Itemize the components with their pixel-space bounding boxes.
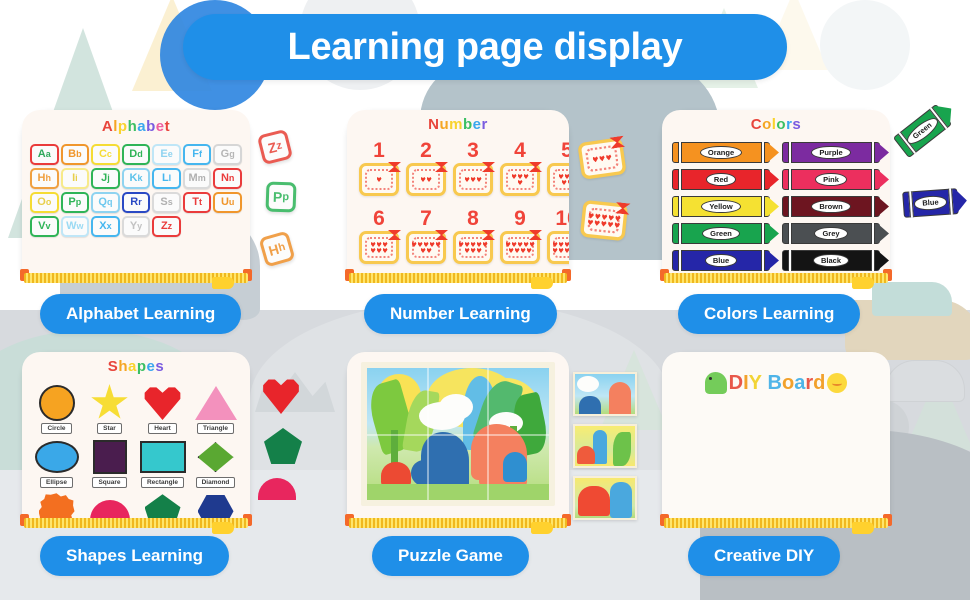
heart-icon bbox=[594, 220, 600, 226]
crayon-label: Brown bbox=[811, 200, 850, 214]
alphabet-tile-m[interactable]: Mm bbox=[183, 168, 212, 189]
tile-lower: o bbox=[46, 198, 52, 207]
shape-star-icon bbox=[91, 384, 129, 422]
heart-count-7 bbox=[410, 240, 442, 255]
heart-icon bbox=[518, 174, 523, 179]
shape-art bbox=[39, 492, 75, 520]
puzzle-board[interactable] bbox=[347, 352, 569, 520]
loose-alphabet-tile-p[interactable]: Pp bbox=[265, 181, 296, 212]
number-cell-9[interactable]: 9 bbox=[500, 208, 540, 264]
crayon-green[interactable]: Green bbox=[893, 104, 952, 158]
tile-lower: v bbox=[45, 222, 50, 231]
diy-board[interactable]: DIY Board bbox=[662, 352, 890, 520]
alphabet-tile-t[interactable]: Tt bbox=[183, 192, 212, 213]
heart-icon bbox=[377, 248, 382, 253]
heart-icon bbox=[530, 242, 535, 247]
shape-art bbox=[145, 492, 181, 520]
crayon-pink[interactable]: Pink bbox=[782, 169, 880, 190]
loose-shape-pentagon[interactable] bbox=[264, 428, 302, 464]
alphabet-tile-n[interactable]: Nn bbox=[213, 168, 242, 189]
tile-lower: n bbox=[229, 174, 235, 183]
tile-upper: E bbox=[160, 149, 167, 160]
alphabet-tile-c[interactable]: Cc bbox=[91, 144, 120, 165]
shape-art bbox=[198, 492, 234, 520]
zipper-pull[interactable] bbox=[852, 277, 874, 289]
alphabet-tile-p[interactable]: Pp bbox=[61, 192, 90, 213]
number-cookie-tile-4[interactable] bbox=[500, 163, 540, 196]
tile-upper: O bbox=[37, 197, 46, 208]
alphabet-tile-s[interactable]: Ss bbox=[152, 192, 181, 213]
diy-title-letter: r bbox=[805, 373, 813, 393]
board-surface[interactable]: DIY Board bbox=[662, 352, 890, 520]
shape-label: Triangle bbox=[197, 423, 234, 434]
zipper-pull[interactable] bbox=[531, 277, 553, 289]
heart-icon bbox=[477, 177, 482, 182]
number-cell-2[interactable]: 2 bbox=[406, 140, 446, 196]
alphabet-board[interactable]: Alphabet AaBbCcDdEeFfGgHhIiJjKkLlMmNnOoP… bbox=[22, 110, 250, 275]
heart-icon bbox=[509, 248, 514, 253]
crayon-band bbox=[948, 188, 954, 214]
tile-lower: b bbox=[76, 150, 82, 159]
shape-square-icon bbox=[93, 440, 127, 474]
tile-lower: r bbox=[138, 198, 142, 207]
heart-icon bbox=[524, 242, 529, 247]
crayon-band bbox=[678, 223, 682, 244]
shape-cell-square[interactable]: Square bbox=[85, 438, 134, 488]
diy-title-letter: D bbox=[729, 373, 743, 393]
crayon-band bbox=[678, 142, 682, 163]
shape-label: Circle bbox=[41, 423, 71, 434]
shape-art bbox=[35, 438, 79, 476]
heart-count-8 bbox=[457, 240, 489, 255]
shape-cell-ellipse[interactable]: Ellipse bbox=[32, 438, 81, 488]
heart-icon bbox=[427, 248, 432, 253]
tile-upper: F bbox=[192, 149, 199, 160]
crayon-band bbox=[788, 250, 792, 271]
heart-icon bbox=[506, 242, 511, 247]
tile-upper: C bbox=[99, 149, 107, 160]
diy-board-title: DIY Board bbox=[662, 372, 890, 394]
crayon-brown[interactable]: Brown bbox=[782, 196, 880, 217]
tile-upper: Q bbox=[98, 197, 107, 208]
heart-icon bbox=[608, 215, 614, 221]
heart-icon bbox=[565, 248, 570, 253]
number-digit: 8 bbox=[467, 208, 479, 229]
heart-icon bbox=[559, 242, 564, 247]
heart-icon bbox=[471, 177, 476, 182]
bow-icon bbox=[615, 202, 631, 215]
heart-icon bbox=[412, 242, 417, 247]
tile-lower: a bbox=[46, 150, 51, 159]
tile-lower: q bbox=[107, 198, 113, 207]
crayon-band bbox=[761, 196, 765, 217]
heart-icon bbox=[592, 156, 598, 162]
crayon-label: Black bbox=[813, 254, 849, 268]
board-surface: Shapes CircleStarHeartTriangleEllipseSqu… bbox=[22, 352, 250, 520]
bow-icon bbox=[388, 162, 401, 172]
loose-shape-semicircle[interactable] bbox=[258, 478, 296, 500]
heart-icon bbox=[477, 242, 482, 247]
shape-art bbox=[144, 384, 182, 422]
tile-lower: f bbox=[199, 150, 202, 159]
panel-grid: Alphabet AaBbCcDdEeFfGgHhIiJjKkLlMmNnOoP… bbox=[0, 0, 970, 600]
heart-icon bbox=[483, 242, 488, 247]
shapes-board-title: Shapes bbox=[22, 358, 250, 375]
shape-hexagon-icon bbox=[198, 494, 234, 520]
shape-label: Heart bbox=[148, 423, 177, 434]
number-cell-7[interactable]: 7 bbox=[406, 208, 446, 264]
tile-lower: z bbox=[168, 222, 173, 231]
alphabet-tile-q[interactable]: Qq bbox=[91, 192, 120, 213]
crayon-band bbox=[761, 223, 765, 244]
shape-cell-pentagon[interactable]: Pentagon bbox=[138, 492, 187, 520]
caption-alphabet-learning: Alphabet Learning bbox=[40, 294, 241, 334]
shape-ellipse-icon bbox=[35, 441, 79, 473]
alphabet-tile-v[interactable]: Vv bbox=[30, 216, 59, 237]
crayon-label: Purple bbox=[811, 146, 850, 160]
loose-shape-heart[interactable] bbox=[262, 378, 300, 414]
heart-count-3 bbox=[463, 172, 483, 187]
crayon-band bbox=[871, 223, 875, 244]
crayon-band bbox=[908, 191, 914, 217]
colors-board[interactable]: Colors OrangePurpleRedPinkYellowBrownGre… bbox=[662, 110, 890, 275]
shape-circle-icon bbox=[39, 385, 75, 421]
diy-title-letter: B bbox=[768, 373, 782, 393]
tile-lower: d bbox=[137, 150, 143, 159]
tile-upper: M bbox=[189, 173, 198, 184]
number-digit: 6 bbox=[373, 208, 385, 229]
shape-cell-flower[interactable]: Flower bbox=[32, 492, 81, 520]
tile-lower: l bbox=[169, 174, 172, 183]
shape-heart-icon bbox=[144, 386, 182, 420]
alphabet-tile-r[interactable]: Rr bbox=[122, 192, 151, 213]
number-cell-1[interactable]: 1 bbox=[359, 140, 399, 196]
crayon-band bbox=[788, 196, 792, 217]
heart-icon bbox=[553, 242, 558, 247]
heart-icon bbox=[607, 221, 613, 227]
crayon-band bbox=[761, 250, 765, 271]
loose-number-cookie[interactable] bbox=[580, 200, 628, 241]
tile-upper: K bbox=[130, 173, 138, 184]
alphabet-tile-w[interactable]: Ww bbox=[61, 216, 90, 237]
shape-label: Square bbox=[92, 477, 126, 488]
zipper-pull[interactable] bbox=[852, 522, 874, 534]
number-digit: 3 bbox=[467, 140, 479, 161]
dinosaur-icon bbox=[705, 372, 727, 394]
shape-label: Ellipse bbox=[40, 477, 73, 488]
shape-diamond-icon bbox=[198, 442, 234, 472]
bow-icon bbox=[482, 162, 495, 172]
shape-art bbox=[90, 492, 130, 520]
shape-cell-diamond[interactable]: Diamond bbox=[191, 438, 240, 488]
puzzle-scene[interactable] bbox=[361, 362, 555, 506]
number-cookie-tile-1[interactable] bbox=[359, 163, 399, 196]
shape-cell-star[interactable]: Star bbox=[85, 384, 134, 434]
heart-icon bbox=[601, 221, 607, 227]
tile-lower: j bbox=[107, 174, 110, 183]
bow-icon bbox=[529, 230, 542, 240]
heart-icon bbox=[527, 248, 532, 253]
alphabet-tile-z[interactable]: Zz bbox=[152, 216, 181, 237]
diy-title-letters: DIY Board bbox=[729, 373, 826, 393]
shape-cell-heart[interactable]: Heart bbox=[138, 384, 187, 434]
tile-lower: x bbox=[107, 222, 112, 231]
shape-cell-triangle[interactable]: Triangle bbox=[191, 384, 240, 434]
alphabet-tile-l[interactable]: Ll bbox=[152, 168, 181, 189]
tile-lower: w bbox=[77, 222, 84, 231]
heart-icon bbox=[471, 248, 476, 253]
diy-title-letter: d bbox=[813, 373, 825, 393]
heart-icon bbox=[430, 242, 435, 247]
shape-art bbox=[140, 438, 186, 476]
shapes-board[interactable]: Shapes CircleStarHeartTriangleEllipseSqu… bbox=[22, 352, 250, 520]
tile-lower: u bbox=[229, 198, 235, 207]
tile-upper: B bbox=[68, 149, 76, 160]
heart-icon bbox=[559, 248, 564, 253]
number-cookie-tile-8[interactable] bbox=[453, 231, 493, 264]
tile-upper: Z bbox=[161, 221, 168, 232]
heart-icon bbox=[377, 177, 382, 182]
heart-icon bbox=[421, 248, 426, 253]
puzzle-dinosaur-red bbox=[381, 462, 411, 486]
number-cookie-tile-10[interactable] bbox=[547, 231, 569, 264]
bow-icon bbox=[388, 230, 401, 240]
number-digit: 7 bbox=[420, 208, 432, 229]
crayon-grey[interactable]: Grey bbox=[782, 223, 880, 244]
crayon-label: Blue bbox=[705, 254, 737, 268]
heart-icon bbox=[614, 222, 620, 228]
heart-icon bbox=[465, 248, 470, 253]
number-cell-6[interactable]: 6 bbox=[359, 208, 399, 264]
alphabet-tile-h[interactable]: Hh bbox=[30, 168, 59, 189]
number-cookie-tile-3[interactable] bbox=[453, 163, 493, 196]
shape-cell-semicircle[interactable]: Semicircle bbox=[85, 492, 134, 520]
heart-icon bbox=[465, 177, 470, 182]
crayon-grid[interactable]: OrangePurpleRedPinkYellowBrownGreenGreyB… bbox=[672, 142, 880, 271]
shape-rectangle-icon bbox=[140, 441, 186, 473]
alphabet-tile-b[interactable]: Bb bbox=[61, 144, 90, 165]
tile-upper: S bbox=[160, 197, 167, 208]
board-surface: Alphabet AaBbCcDdEeFfGgHhIiJjKkLlMmNnOoP… bbox=[22, 110, 250, 275]
heart-icon bbox=[377, 242, 382, 247]
crayon-green[interactable]: Green bbox=[672, 223, 770, 244]
loose-crayon-green[interactable]: Green bbox=[893, 104, 952, 158]
tile-lower: c bbox=[107, 150, 112, 159]
tile-lower: h bbox=[46, 174, 52, 183]
crayon-band bbox=[678, 196, 682, 217]
heart-icon bbox=[436, 242, 441, 247]
crayon-band bbox=[761, 169, 765, 190]
heart-icon bbox=[512, 174, 517, 179]
number-tile-grid[interactable]: 12345678910 bbox=[359, 140, 557, 264]
number-cell-5[interactable]: 5 bbox=[547, 140, 569, 196]
shape-art bbox=[91, 384, 129, 422]
loose-crayon-blue[interactable]: Blue bbox=[902, 188, 959, 218]
crayon-blue[interactable]: Blue bbox=[902, 188, 959, 218]
puzzle-image bbox=[367, 368, 549, 500]
diy-title-letter: a bbox=[794, 373, 805, 393]
crayon-red[interactable]: Red bbox=[672, 169, 770, 190]
caption-number-learning: Number Learning bbox=[364, 294, 557, 334]
bow-icon bbox=[435, 162, 448, 172]
alphabet-tile-a[interactable]: Aa bbox=[30, 144, 59, 165]
crayon-label: Blue bbox=[914, 195, 947, 211]
tile-upper: R bbox=[130, 197, 138, 208]
tile-upper: L bbox=[162, 173, 169, 184]
heart-icon bbox=[615, 215, 621, 221]
crayon-yellow[interactable]: Yellow bbox=[672, 196, 770, 217]
alphabet-tile-grid[interactable]: AaBbCcDdEeFfGgHhIiJjKkLlMmNnOoPpQqRrSsTt… bbox=[30, 144, 242, 237]
crayon-band bbox=[871, 250, 875, 271]
number-cookie-tile-5[interactable] bbox=[547, 163, 569, 196]
heart-icon bbox=[418, 242, 423, 247]
puzzle-seam bbox=[367, 434, 549, 436]
shape-semicircle-icon bbox=[258, 478, 296, 500]
number-cell-10[interactable]: 10 bbox=[547, 208, 569, 264]
shape-label: Diamond bbox=[196, 477, 236, 488]
crayon-band bbox=[871, 142, 875, 163]
heart-count-1 bbox=[375, 172, 383, 187]
tile-upper: V bbox=[38, 221, 45, 232]
heart-count-10 bbox=[551, 240, 569, 255]
heart-icon bbox=[565, 174, 570, 179]
number-cell-3[interactable]: 3 bbox=[453, 140, 493, 196]
alphabet-tile-e[interactable]: Ee bbox=[152, 144, 181, 165]
crayon-blue[interactable]: Blue bbox=[672, 250, 770, 271]
tile-lower: i bbox=[75, 174, 78, 183]
loose-alphabet-tile-z[interactable]: Zz bbox=[257, 129, 293, 165]
heart-icon bbox=[512, 242, 517, 247]
number-cookie-tile-7[interactable] bbox=[406, 231, 446, 264]
number-board-title: Number bbox=[347, 116, 569, 133]
shape-tile-grid[interactable]: CircleStarHeartTriangleEllipseSquareRect… bbox=[32, 384, 240, 520]
tile-upper: X bbox=[99, 221, 106, 232]
alphabet-tile-x[interactable]: Xx bbox=[91, 216, 120, 237]
board-surface: Colors OrangePurpleRedPinkYellowBrownGre… bbox=[662, 110, 890, 275]
shape-heart-icon bbox=[262, 378, 300, 414]
shape-label: Star bbox=[97, 423, 122, 434]
heart-count-4 bbox=[510, 172, 530, 187]
heart-count-5 bbox=[557, 172, 569, 187]
number-digit: 2 bbox=[420, 140, 432, 161]
heart-icon bbox=[565, 242, 570, 247]
shape-flower-icon bbox=[39, 493, 75, 520]
page-title-banner: Learning page display bbox=[183, 14, 787, 80]
shape-art bbox=[198, 438, 234, 476]
shape-label: Rectangle bbox=[141, 477, 184, 488]
tile-upper: A bbox=[38, 149, 46, 160]
tile-lower: p bbox=[282, 191, 289, 203]
heart-icon bbox=[518, 242, 523, 247]
heart-icon bbox=[595, 213, 601, 219]
alphabet-tile-j[interactable]: Jj bbox=[91, 168, 120, 189]
crayon-orange[interactable]: Orange bbox=[672, 142, 770, 163]
puzzle-dinosaur-small bbox=[503, 452, 527, 482]
shape-cell-hexagon[interactable]: Hexagon bbox=[191, 492, 240, 520]
heart-icon bbox=[424, 242, 429, 247]
heart-icon bbox=[515, 248, 520, 253]
crayon-band bbox=[871, 169, 875, 190]
heart-count-6 bbox=[369, 240, 389, 255]
alphabet-tile-k[interactable]: Kk bbox=[122, 168, 151, 189]
board-surface bbox=[347, 352, 569, 520]
shape-art bbox=[195, 384, 237, 422]
alphabet-tile-g[interactable]: Gg bbox=[213, 144, 242, 165]
crayon-band bbox=[871, 196, 875, 217]
puzzle-cloud bbox=[439, 394, 473, 420]
shape-cell-circle[interactable]: Circle bbox=[32, 384, 81, 434]
crayon-purple[interactable]: Purple bbox=[782, 142, 880, 163]
alphabet-tile-f[interactable]: Ff bbox=[183, 144, 212, 165]
shape-cell-rectangle[interactable]: Rectangle bbox=[138, 438, 187, 488]
heart-icon bbox=[459, 242, 464, 247]
bow-icon bbox=[435, 230, 448, 240]
loose-alphabet-tile-h[interactable]: Hh bbox=[258, 230, 295, 267]
number-cookie-tile-9[interactable] bbox=[500, 231, 540, 264]
tile-upper: P bbox=[68, 197, 75, 208]
number-cell-4[interactable]: 4 bbox=[500, 140, 540, 196]
zipper-pull[interactable] bbox=[531, 522, 553, 534]
number-digit: 10 bbox=[555, 208, 569, 229]
number-cell-8[interactable]: 8 bbox=[453, 208, 493, 264]
puzzle-piece-card[interactable] bbox=[573, 372, 637, 416]
number-board[interactable]: Number 12345678910 bbox=[347, 110, 569, 275]
heart-icon bbox=[587, 219, 593, 225]
loose-cookie-tile[interactable] bbox=[577, 137, 627, 180]
tile-lower: m bbox=[198, 174, 206, 183]
alphabet-tile-u[interactable]: Uu bbox=[213, 192, 242, 213]
alphabet-tile-i[interactable]: Ii bbox=[61, 168, 90, 189]
heart-icon bbox=[518, 180, 523, 185]
caption-creative-diy: Creative DIY bbox=[688, 536, 840, 576]
crayon-black[interactable]: Black bbox=[782, 250, 880, 271]
heart-icon bbox=[465, 242, 470, 247]
loose-number-cookie[interactable] bbox=[577, 137, 627, 180]
alphabet-tile-y[interactable]: Yy bbox=[122, 216, 151, 237]
diy-title-letter: o bbox=[782, 373, 794, 393]
tile-upper: Y bbox=[130, 221, 137, 232]
number-cookie-tile-2[interactable] bbox=[406, 163, 446, 196]
crayon-band bbox=[788, 169, 792, 190]
alphabet-tile-d[interactable]: Dd bbox=[122, 144, 151, 165]
crayon-band bbox=[678, 250, 682, 271]
colors-board-title: Colors bbox=[662, 116, 890, 133]
heart-icon bbox=[553, 248, 558, 253]
heart-icon bbox=[471, 242, 476, 247]
heart-icon bbox=[588, 213, 594, 219]
heart-icon bbox=[521, 248, 526, 253]
loose-cookie-tile[interactable] bbox=[580, 200, 628, 241]
crayon-label: Orange bbox=[700, 146, 742, 160]
bow-icon bbox=[529, 162, 542, 172]
heart-icon bbox=[524, 174, 529, 179]
caption-colors-learning: Colors Learning bbox=[678, 294, 860, 334]
puzzle-piece-card[interactable] bbox=[573, 424, 637, 468]
heart-icon bbox=[562, 180, 567, 185]
number-digit: 1 bbox=[373, 140, 385, 161]
number-cookie-tile-6[interactable] bbox=[359, 231, 399, 264]
number-digit: 5 bbox=[561, 140, 569, 161]
crayon-label: Green bbox=[903, 114, 941, 148]
page-title: Learning page display bbox=[288, 26, 683, 69]
heart-icon bbox=[605, 154, 611, 160]
heart-icon bbox=[371, 248, 376, 253]
zipper-pull[interactable] bbox=[212, 522, 234, 534]
shape-art bbox=[39, 384, 75, 422]
puzzle-piece-card[interactable] bbox=[573, 476, 637, 520]
alphabet-tile-o[interactable]: Oo bbox=[30, 192, 59, 213]
zipper-pull[interactable] bbox=[212, 277, 234, 289]
